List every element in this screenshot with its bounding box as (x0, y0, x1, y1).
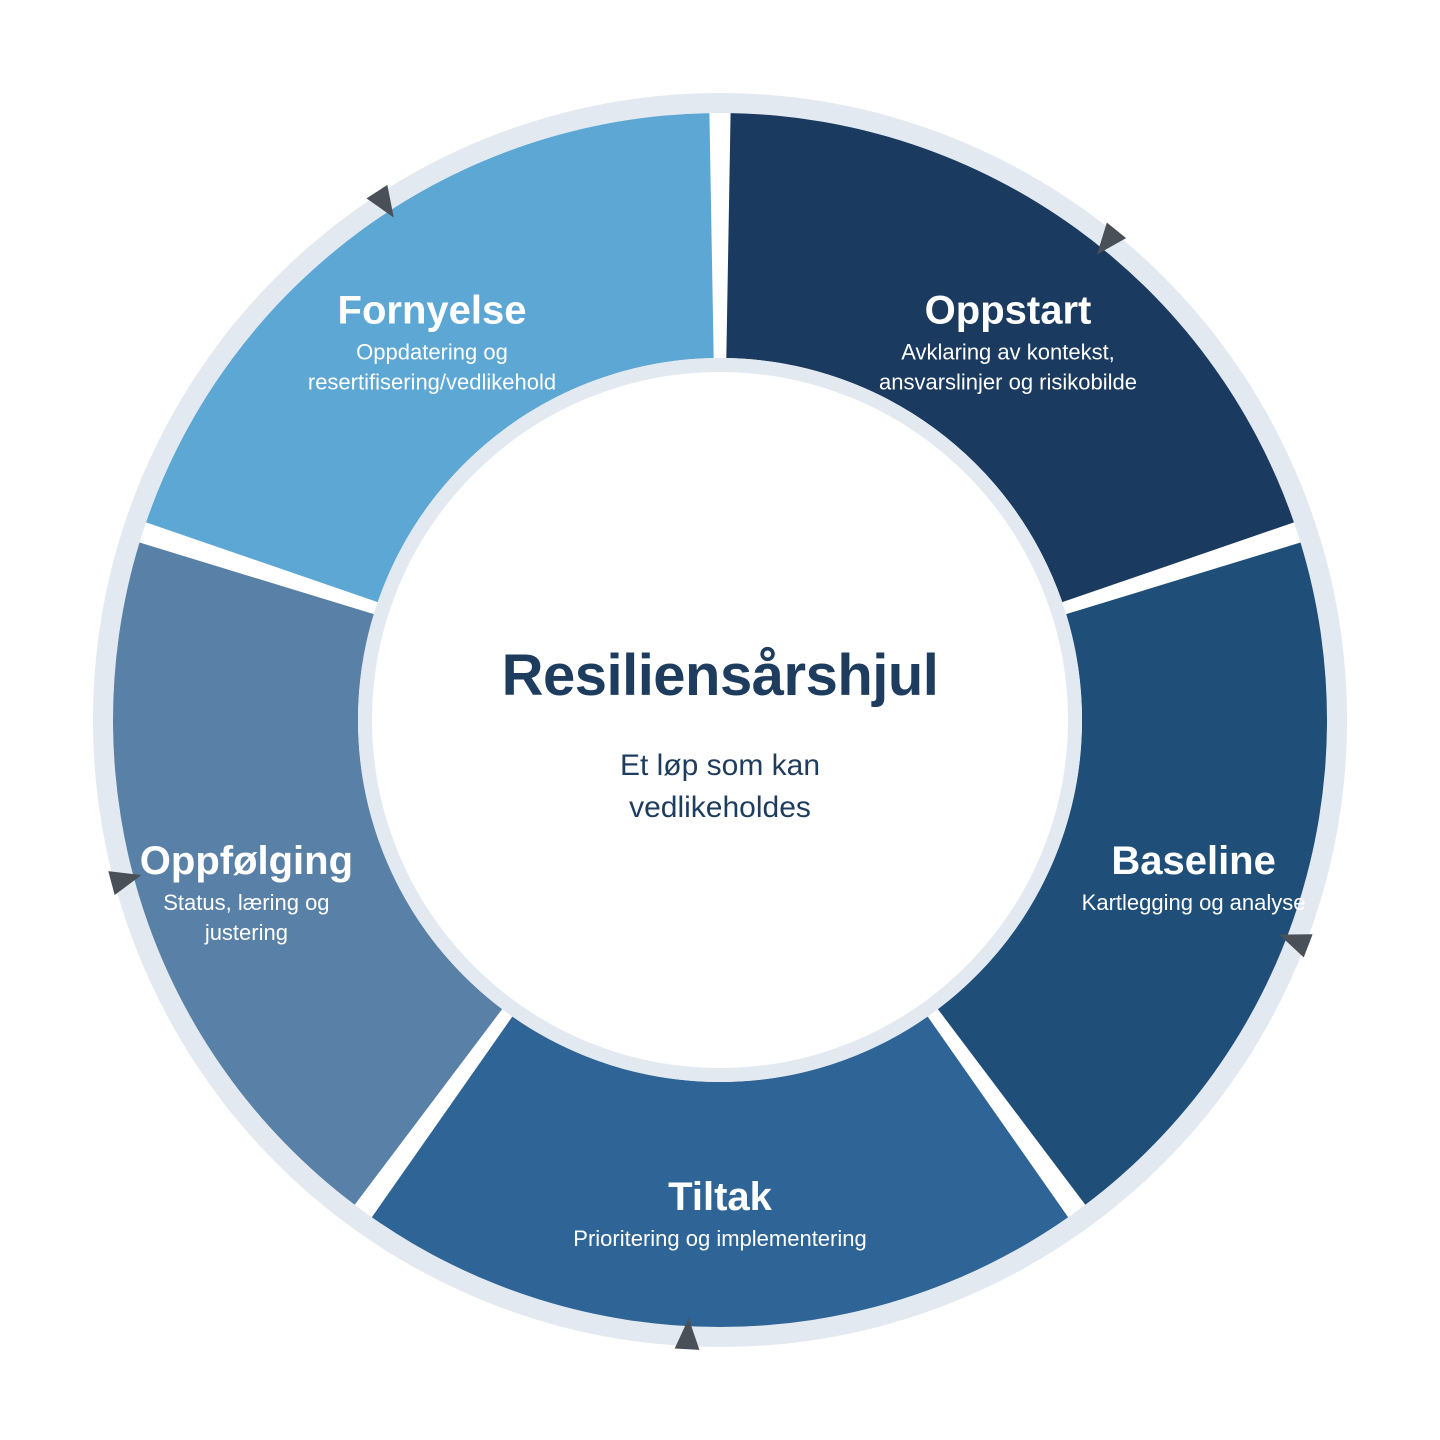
center-subtitle-line1: Et løp som kan (620, 749, 820, 782)
segment-desc-oppfolging-line1: Status, læring og (163, 890, 329, 915)
segment-desc-fornyelse-line1: Oppdatering og (356, 340, 508, 365)
segment-desc-tiltak-line1: Prioritering og implementering (573, 1226, 866, 1251)
resiliens-wheel-diagram: OppstartAvklaring av kontekst,ansvarslin… (0, 0, 1440, 1440)
segment-desc-oppfolging-line2: justering (204, 920, 288, 945)
wheel-canvas: OppstartAvklaring av kontekst,ansvarslin… (0, 0, 1440, 1440)
segment-title-oppfolging: Oppfølging (140, 839, 353, 883)
segment-title-fornyelse: Fornyelse (338, 289, 527, 333)
center-subtitle-line2: vedlikeholdes (629, 791, 811, 824)
segment-title-tiltak: Tiltak (668, 1175, 773, 1219)
segment-desc-oppstart-line2: ansvarslinjer og risikobilde (879, 370, 1137, 395)
segment-desc-baseline-line1: Kartlegging og analyse (1082, 890, 1306, 915)
segment-desc-oppstart-line1: Avklaring av kontekst, (901, 340, 1115, 365)
segment-title-oppstart: Oppstart (925, 289, 1092, 333)
segment-label-baseline: BaselineKartlegging og analyse (1082, 839, 1306, 915)
inner-hole (365, 365, 1075, 1075)
segment-desc-fornyelse-line2: resertifisering/vedlikehold (308, 370, 556, 395)
segment-title-baseline: Baseline (1111, 839, 1276, 883)
center-title: Resiliensårshjul (502, 643, 939, 708)
